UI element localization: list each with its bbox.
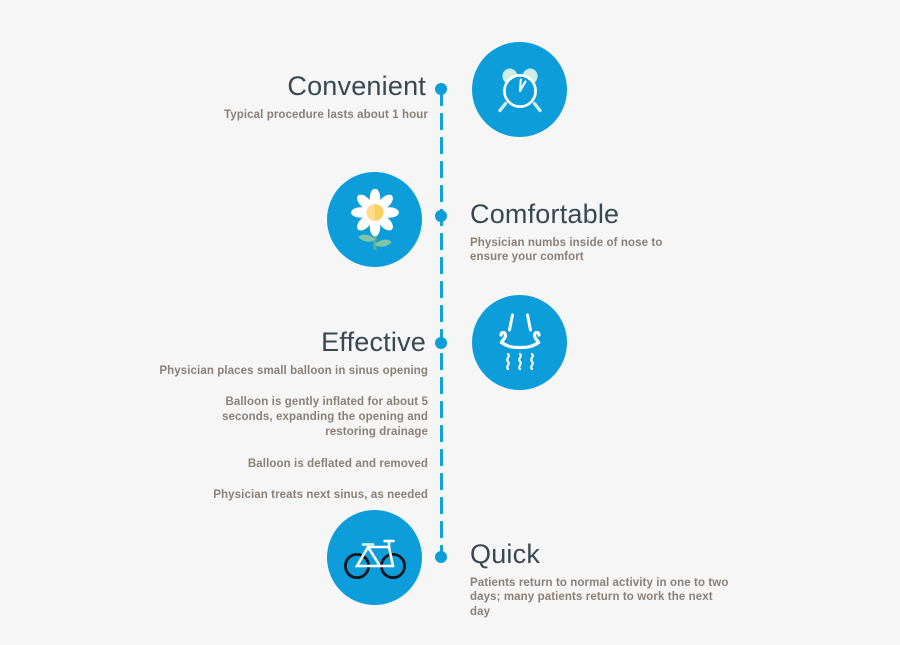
timeline-node-comfortable [435, 210, 447, 222]
timeline-spine [440, 89, 443, 558]
icon-medallion-effective [472, 295, 567, 390]
milestone-effective-text: Effective Physician places small balloon… [0, 328, 428, 503]
timeline-node-convenient [435, 83, 447, 95]
timeline-node-effective [435, 337, 447, 349]
milestone-convenient-text: Convenient Typical procedure lasts about… [0, 72, 428, 122]
effective-step-4: Physician treats next sinus, as needed [0, 488, 428, 503]
icon-medallion-convenient [472, 42, 567, 137]
milestone-comfortable-text: Comfortable Physician numbs inside of no… [470, 200, 800, 265]
milestone-headline-convenient: Convenient [0, 72, 428, 102]
nose-breathing-icon [491, 312, 549, 374]
milestone-headline-quick: Quick [470, 540, 800, 570]
milestone-headline-comfortable: Comfortable [470, 200, 800, 230]
effective-step-1: Physician places small balloon in sinus … [0, 364, 428, 379]
milestone-detail-convenient: Typical procedure lasts about 1 hour [0, 108, 428, 123]
milestone-detail-comfortable: Physician numbs inside of nose to ensure… [470, 236, 698, 265]
alarm-clock-icon [493, 63, 547, 117]
effective-step-3: Balloon is deflated and removed [0, 457, 428, 472]
effective-step-list: Physician places small balloon in sinus … [0, 364, 428, 503]
icon-medallion-quick [327, 510, 422, 605]
icon-medallion-comfortable [327, 172, 422, 267]
timeline-node-quick [435, 551, 447, 563]
flower-icon [345, 189, 405, 251]
milestone-headline-effective: Effective [0, 328, 428, 358]
milestone-quick-text: Quick Patients return to normal activity… [470, 540, 800, 620]
infographic-canvas: Convenient Typical procedure lasts about… [0, 0, 900, 645]
bicycle-icon [344, 535, 406, 581]
effective-step-2: Balloon is gently inflated for about 5 s… [172, 395, 428, 439]
milestone-detail-quick: Patients return to normal activity in on… [470, 576, 732, 620]
